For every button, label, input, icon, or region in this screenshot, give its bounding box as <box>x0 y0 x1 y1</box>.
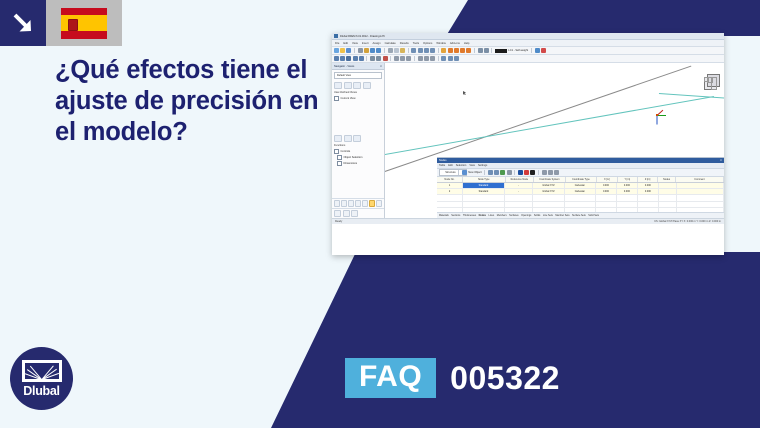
table-menu-edit[interactable]: Edit <box>448 164 452 167</box>
menu-item-tools[interactable]: Tools <box>413 42 419 45</box>
status-left: Ready <box>335 220 342 223</box>
table-icon-sort[interactable] <box>494 170 499 175</box>
col-header-x: X [m] <box>597 177 617 182</box>
menu-item-calculate[interactable]: Calculate <box>385 42 396 45</box>
table-menu-table[interactable]: Table <box>439 164 445 167</box>
table-tab-sections[interactable]: Sections <box>451 214 460 217</box>
toolbar-icon-mirror[interactable] <box>418 56 423 61</box>
app-status-bar: Ready CS: Global XYZ Plane XY X: 0.000 m… <box>332 218 724 224</box>
table-icon-edit[interactable] <box>542 170 547 175</box>
nodes-table-grid[interactable]: Node No. Node Type Reference Node Coordi… <box>437 177 724 212</box>
dlubal-logo: Dlubal <box>10 347 73 410</box>
table-menu-settings[interactable]: Settings <box>478 164 487 167</box>
toolbar-icon-results[interactable] <box>541 48 546 53</box>
cell-y: 0.000 <box>617 189 638 194</box>
table-icon-export[interactable] <box>500 170 505 175</box>
cell-node-type: Standard <box>463 183 505 188</box>
app-title: Dlubal RFEM 6.01.0012 - Drawing1.rf6 <box>340 35 385 38</box>
toolbar-icon-load[interactable] <box>383 56 388 61</box>
navigator-bottom-toolbar[interactable] <box>332 198 384 208</box>
nav-bottom-icon-3[interactable] <box>348 200 354 207</box>
functions-icon-dimensions[interactable] <box>353 135 361 142</box>
toolbar-icon-print[interactable] <box>358 48 363 53</box>
cell-x: 0.000 <box>596 189 617 194</box>
toolbar-icon-node[interactable] <box>334 56 339 61</box>
model-axis-line-teal-2 <box>659 93 724 100</box>
toolbar-icon-ortho[interactable] <box>424 48 429 53</box>
table-tab-openings[interactable]: Openings <box>521 214 531 217</box>
toolbar-icon-save[interactable] <box>346 48 351 53</box>
toolbar-icon-zoom-out[interactable] <box>454 48 459 53</box>
col-header-node-no: Node No. <box>437 177 463 182</box>
cell-coordinate-type: Cartesian <box>565 183 596 188</box>
cell-node-no: 2 <box>437 189 463 194</box>
menu-item-results[interactable]: Results <box>400 42 409 45</box>
cell-coordinate-system: Global XYZ <box>533 189 564 194</box>
table-new-object-label: New Object <box>468 171 481 174</box>
nodes-table-close-icon[interactable]: ✕ <box>720 159 722 162</box>
menu-item-insert[interactable]: Insert <box>362 42 369 45</box>
app-body: Navigator - Views ✕ Default View User-De… <box>332 63 724 218</box>
table-tab-nodes[interactable]: Nodes <box>479 214 486 217</box>
toolbar-icon-zoom-all[interactable] <box>460 48 465 53</box>
nav-bottom-icon-4[interactable] <box>355 200 361 207</box>
toolbar-icon-new[interactable] <box>334 48 339 53</box>
navigator-bottom-toolbar-2[interactable] <box>332 208 384 218</box>
toolbar-icon-measure[interactable] <box>406 56 411 61</box>
table-icon-settings[interactable] <box>554 170 559 175</box>
toolbar-icon-zoom-in[interactable] <box>448 48 453 53</box>
status-right: CS: Global XYZ Plane XY X: 0.000 m Y: 0.… <box>654 220 721 223</box>
nav-bottom-icon-6[interactable] <box>369 200 375 207</box>
toolbar-icon-surface[interactable] <box>353 56 358 61</box>
table-tab-surfaces[interactable]: Surfaces <box>509 214 518 217</box>
menu-item-assign[interactable]: Assign <box>373 42 381 45</box>
model-viewport[interactable]: Nodes ✕ Table Edit Selection View Settin… <box>385 63 724 218</box>
col-header-reference-node: Reference Node <box>506 177 535 182</box>
navigator-panel: Navigator - Views ✕ Default View User-De… <box>332 63 385 218</box>
nav-bottom-icon-7[interactable] <box>376 200 382 207</box>
navigator-tree-item-label: Current View <box>341 97 356 100</box>
navigator-functions-tree[interactable]: Controls Object Selection Dimensions <box>332 148 384 166</box>
toolbar-icon-pan[interactable] <box>484 48 489 53</box>
navigator-icon-add-view[interactable] <box>334 82 342 89</box>
cell-comment <box>677 183 724 188</box>
app-toolbar-row-1[interactable]: LC1 - Self-weight <box>332 47 724 55</box>
arrow-down-right-icon <box>0 0 46 46</box>
toolbar-icon-line[interactable] <box>340 56 345 61</box>
table-icon-print[interactable] <box>507 170 512 175</box>
model-axis-line-teal-1 <box>385 96 714 156</box>
toolbar-icon-calculate[interactable] <box>535 48 540 53</box>
cell-reference-node: - <box>505 189 534 194</box>
table-tab-member-sets[interactable]: Member Sets <box>555 214 569 217</box>
cell-z: 0.000 <box>638 189 659 194</box>
faq-block: FAQ 005322 <box>345 358 560 398</box>
col-header-node-type: Node Type <box>463 177 506 182</box>
navigator-icon-refresh-view[interactable] <box>363 82 371 89</box>
cell-nodes <box>659 183 677 188</box>
nodes-table-tabs[interactable]: Materials Sections Thicknesses Nodes Lin… <box>437 212 724 218</box>
app-title-bar: Dlubal RFEM 6.01.0012 - Drawing1.rf6 <box>332 33 724 40</box>
functions-icon-selection[interactable] <box>344 135 352 142</box>
col-header-coordinate-system: Coordinate System <box>534 177 565 182</box>
table-tab-lines[interactable]: Lines <box>488 214 494 217</box>
toolbar-icon-snap[interactable] <box>418 48 423 53</box>
logo-wordmark: Dlubal <box>23 384 59 398</box>
nav-bottom-icon-2[interactable] <box>341 200 347 207</box>
nav-bottom-icon-8[interactable] <box>334 210 341 217</box>
nav-bottom-icon-10[interactable] <box>351 210 358 217</box>
functions-item-label: Controls <box>341 150 351 153</box>
cell-node-no: 1 <box>437 183 463 188</box>
app-menu-bar[interactable]: File Edit View Insert Assign Calculate R… <box>332 40 724 47</box>
functions-item-label: Object Selection <box>344 156 363 159</box>
functions-icon-controls[interactable] <box>334 135 342 142</box>
nav-bottom-icon-5[interactable] <box>362 200 368 207</box>
flag-badge-spain <box>46 0 122 46</box>
cell-node-type: Standard <box>463 189 505 194</box>
toolbar-color-swatch[interactable] <box>495 49 507 53</box>
toolbar-icon-text[interactable] <box>400 56 405 61</box>
table-structure-value: Structure <box>443 171 456 174</box>
toolbar-icon-redo[interactable] <box>376 48 381 53</box>
app-toolbar-row-2[interactable] <box>332 55 724 63</box>
checkbox-icon[interactable] <box>334 149 339 154</box>
faq-number: 005322 <box>450 362 560 394</box>
navigator-icon-edit-view[interactable] <box>344 82 352 89</box>
table-tab-solid-sets[interactable]: Solid Sets <box>588 214 599 217</box>
menu-item-help[interactable]: Help <box>464 42 470 45</box>
navigator-close-icon[interactable]: ✕ <box>380 65 382 68</box>
table-tab-surface-sets[interactable]: Surface Sets <box>572 214 586 217</box>
navigator-spacer-bottom <box>332 166 384 199</box>
cell-nodes <box>659 189 677 194</box>
toolbar-icon-move[interactable] <box>430 56 435 61</box>
toolbar-icon-solid[interactable] <box>359 56 364 61</box>
table-tab-thicknesses[interactable]: Thicknesses <box>463 214 476 217</box>
nodes-table-title: Nodes <box>439 159 447 162</box>
toolbar-icon-visibility[interactable] <box>441 56 446 61</box>
table-tab-solids[interactable]: Solids <box>534 214 541 217</box>
toolbar-icon-zoom-window[interactable] <box>466 48 471 53</box>
table-tab-line-sets[interactable]: Line Sets <box>543 214 553 217</box>
menu-item-options[interactable]: Options <box>423 42 432 45</box>
toolbar-icon-array[interactable] <box>424 56 429 61</box>
corner-badges <box>0 0 122 46</box>
navigator-icon-delete-view[interactable] <box>353 82 361 89</box>
cell-coordinate-type: Cartesian <box>565 189 596 194</box>
table-tab-members[interactable]: Members <box>497 214 507 217</box>
toolbar-icon-render[interactable] <box>441 48 446 53</box>
nav-bottom-icon-9[interactable] <box>343 210 350 217</box>
table-icon-color-2[interactable] <box>524 170 529 175</box>
toolbar-loadcase-value: LC1 - Self-weight <box>508 49 528 52</box>
navigator-title: Navigator - Views <box>334 65 354 68</box>
view-cube-icon[interactable] <box>703 73 719 89</box>
nodes-table-toolbar[interactable]: Structure New Object <box>437 169 724 177</box>
toolbar-icon-dimension[interactable] <box>394 56 399 61</box>
navigator-header: Navigator - Views ✕ <box>332 63 384 70</box>
menu-item-window[interactable]: Window <box>436 42 446 45</box>
cell-y: 0.000 <box>617 183 638 188</box>
toolbar-icon-paste[interactable] <box>400 48 405 53</box>
menu-item-edit[interactable]: Edit <box>343 42 348 45</box>
table-icon-filter[interactable] <box>488 170 493 175</box>
cell-reference-node: - <box>505 183 534 188</box>
toolbar-icon-member[interactable] <box>346 56 351 61</box>
navigator-view-select[interactable]: Default View <box>334 72 382 79</box>
col-header-comment: Comment <box>676 177 724 182</box>
col-header-nodes: Nodes <box>658 177 676 182</box>
toolbar-icon-layers[interactable] <box>454 56 459 61</box>
table-icon-color-1[interactable] <box>518 170 523 175</box>
toolbar-icon-open[interactable] <box>340 48 345 53</box>
toolbar-icon-grid[interactable] <box>411 48 416 53</box>
navigator-spacer <box>332 101 384 134</box>
cell-comment <box>677 189 724 194</box>
table-icon-new-object[interactable] <box>462 170 467 175</box>
menu-item-view[interactable]: View <box>352 42 358 45</box>
cell-coordinate-system: Global XYZ <box>533 183 564 188</box>
menu-item-file[interactable]: File <box>335 42 339 45</box>
col-header-coordinate-type: Coordinate Type <box>566 177 597 182</box>
toolbar-icon-object-snap[interactable] <box>430 48 435 53</box>
navigator-view-value: Default View <box>337 74 351 77</box>
functions-item-label: Dimensions <box>344 162 358 165</box>
navigator-toolbar[interactable] <box>332 81 384 90</box>
toolbar-icon-preview[interactable] <box>364 48 369 53</box>
page-title: ¿Qué efectos tiene el ajuste de precisió… <box>55 55 330 148</box>
app-icon <box>334 34 338 38</box>
table-icon-color-3[interactable] <box>530 170 535 175</box>
bridge-truss-icon <box>22 360 62 382</box>
faq-badge: FAQ <box>345 358 436 398</box>
toolbar-icon-cut[interactable] <box>388 48 393 53</box>
table-icon-delete[interactable] <box>548 170 553 175</box>
cell-x: 0.000 <box>596 183 617 188</box>
col-header-y: Y [m] <box>618 177 638 182</box>
menu-item-addons[interactable]: Add-ons <box>450 42 460 45</box>
mouse-cursor-icon <box>463 91 466 95</box>
table-tab-materials[interactable]: Materials <box>439 214 449 217</box>
table-menu-selection[interactable]: Selection <box>456 164 467 167</box>
spain-flag-icon <box>61 8 107 39</box>
nodes-table-panel: Nodes ✕ Table Edit Selection View Settin… <box>437 157 724 218</box>
cell-z: 0.000 <box>638 183 659 188</box>
table-menu-view[interactable]: View <box>469 164 475 167</box>
application-screenshot: Dlubal RFEM 6.01.0012 - Drawing1.rf6 Fil… <box>332 33 724 255</box>
toolbar-icon-hinge[interactable] <box>376 56 381 61</box>
toolbar-icon-filter[interactable] <box>448 56 453 61</box>
toolbar-icon-copy[interactable] <box>394 48 399 53</box>
toolbar-icon-rotate[interactable] <box>478 48 483 53</box>
slide-canvas: ¿Qué efectos tiene el ajuste de precisió… <box>0 0 760 428</box>
navigator-functions-toolbar[interactable] <box>332 134 384 143</box>
nav-bottom-icon-1[interactable] <box>334 200 340 207</box>
col-header-z: Z [m] <box>638 177 658 182</box>
checkbox-icon[interactable] <box>337 155 342 160</box>
toolbar-icon-support[interactable] <box>370 56 375 61</box>
toolbar-icon-undo[interactable] <box>370 48 375 53</box>
